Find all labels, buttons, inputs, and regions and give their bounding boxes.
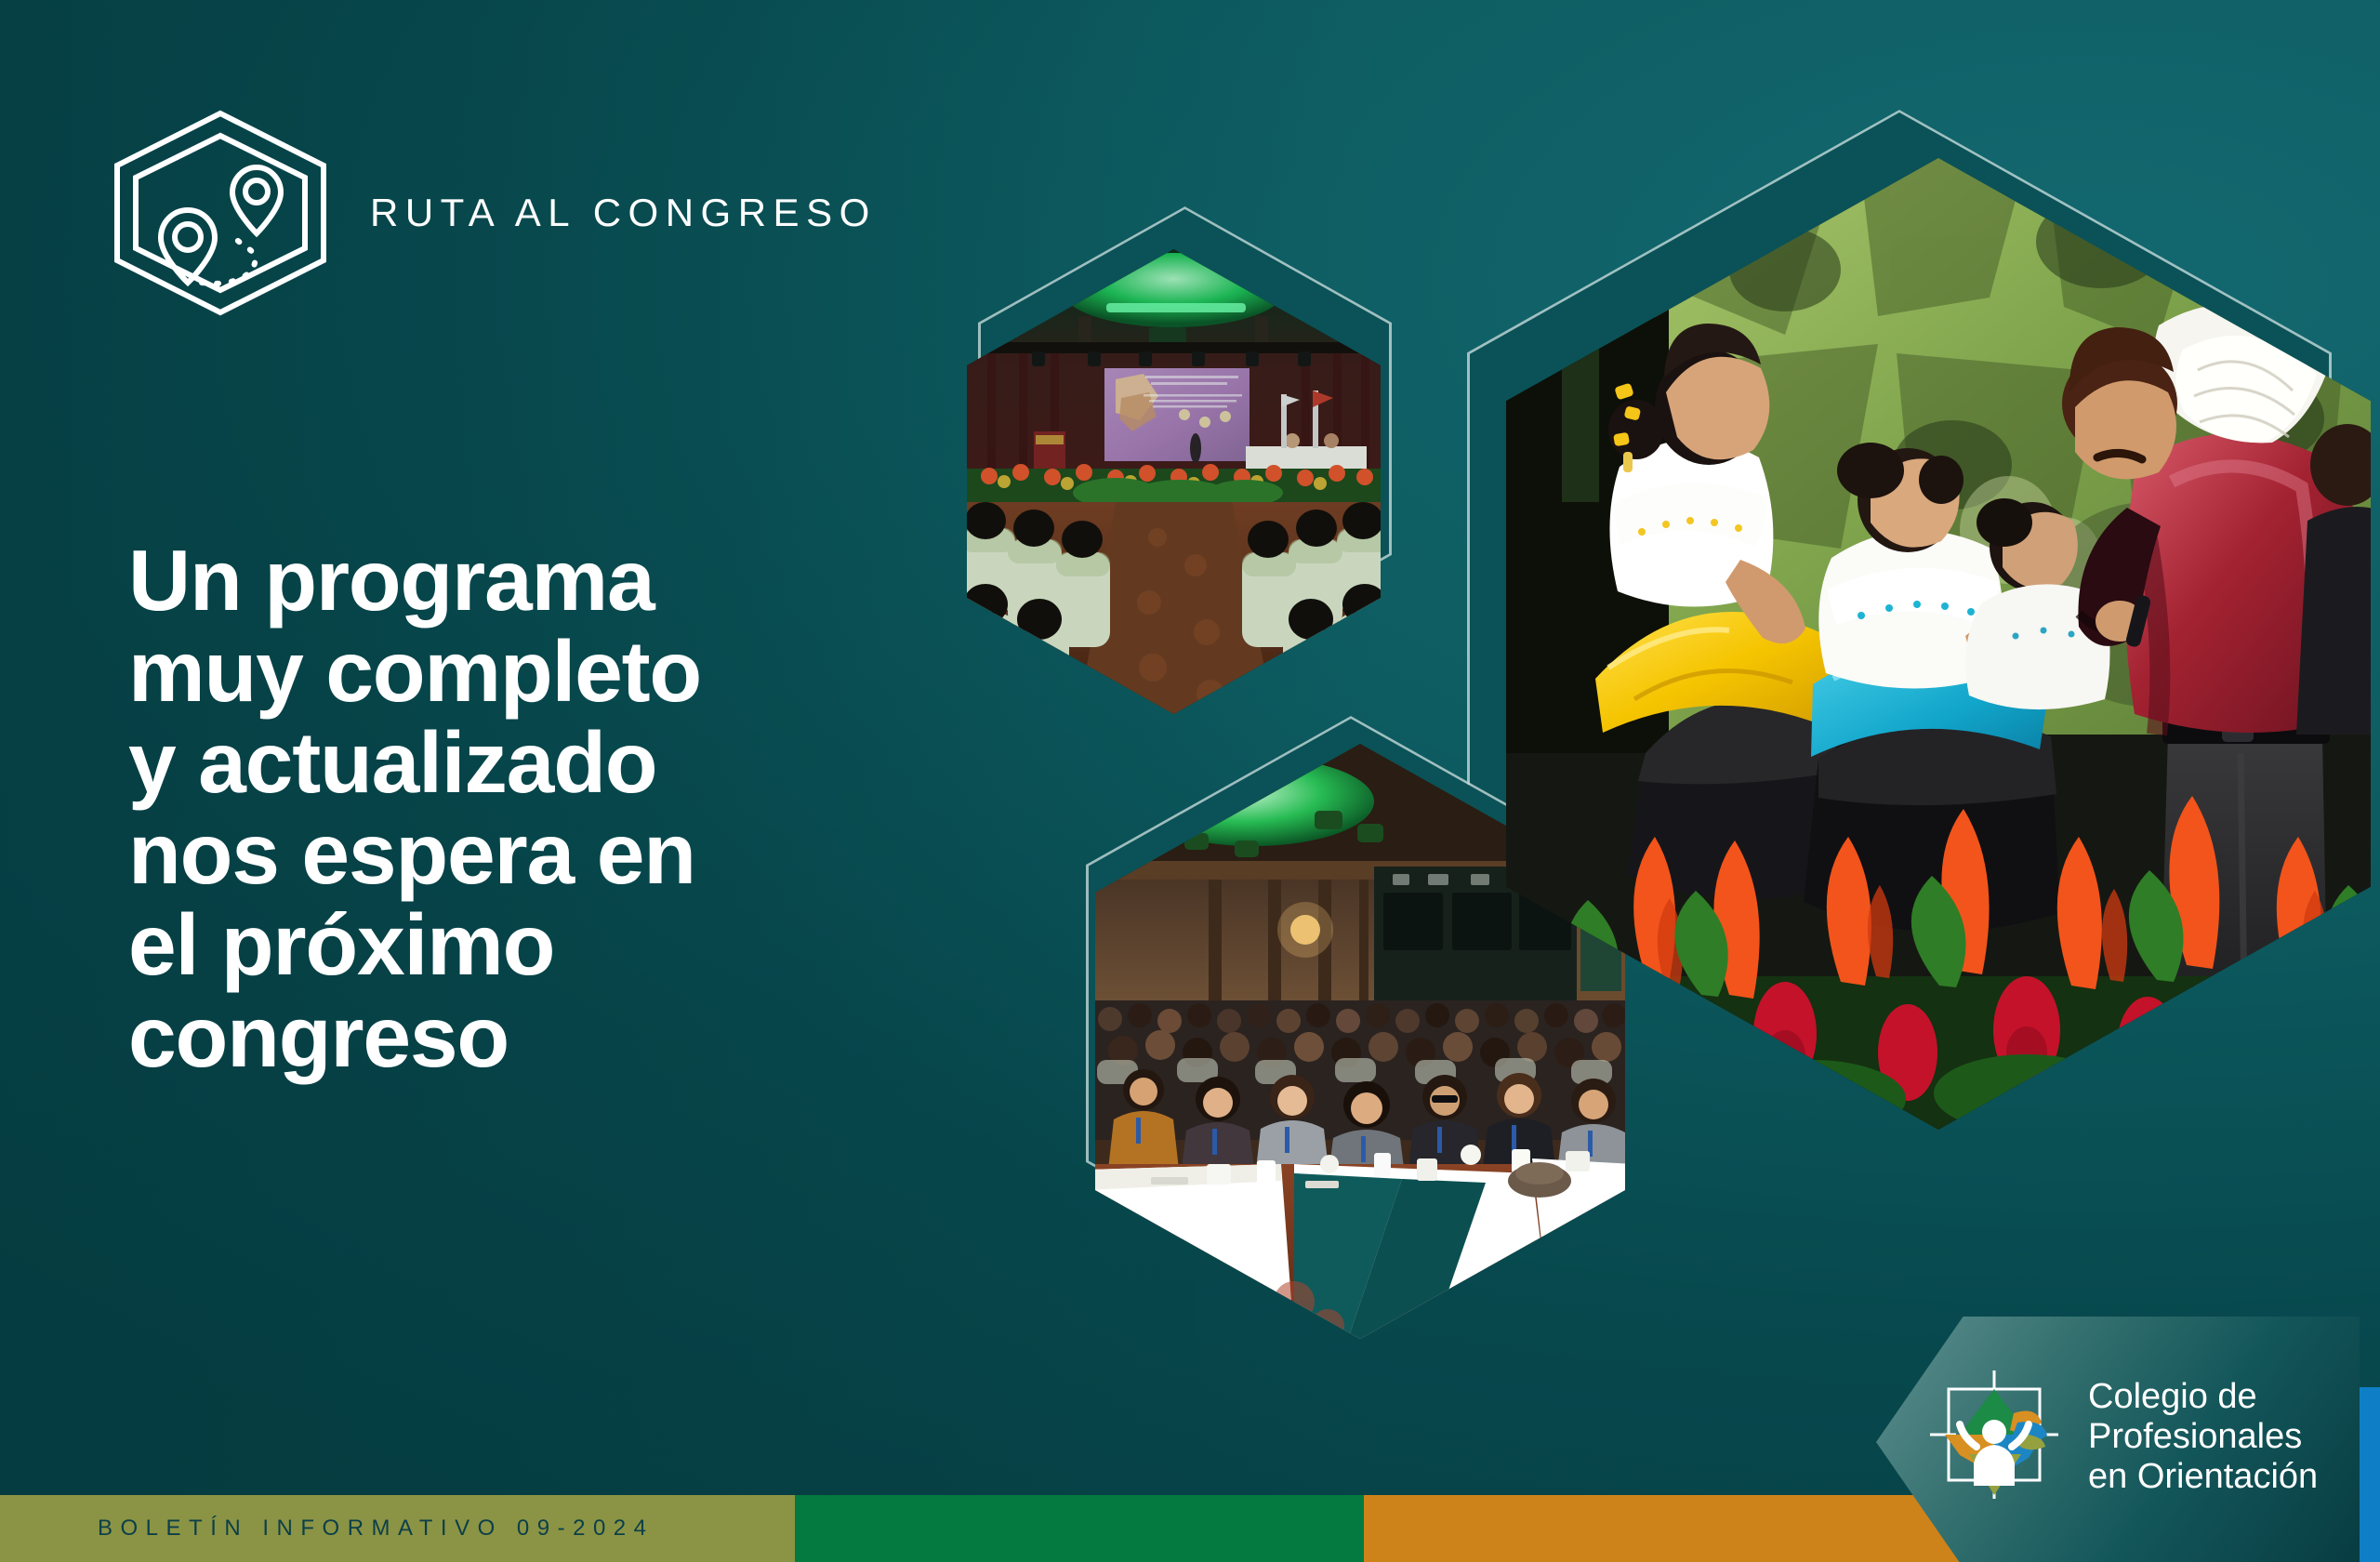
logo-line-1: Colegio de [2088, 1377, 2318, 1417]
headline-line: nos espera en [128, 808, 835, 899]
headline-line: muy completo [128, 626, 835, 717]
brand-title: RUTA AL CONGRESO [370, 191, 877, 235]
colegio-logo-text: Colegio de Profesionales en Orientación [2088, 1377, 2318, 1498]
colegio-diamond-person-icon [1924, 1365, 2064, 1509]
headline-line: el próximo [128, 899, 835, 990]
headline-line: y actualizado [128, 717, 835, 808]
route-hexagon-icon [110, 110, 331, 316]
headline-line: congreso [128, 991, 835, 1082]
segment-green [795, 1495, 1364, 1562]
hex-photo-plenary-hall [967, 249, 1381, 714]
logo-line-3: en Orientación [2088, 1457, 2318, 1497]
page-title: Un programa muy completo y actualizado n… [128, 535, 835, 1082]
colegio-logo: Colegio de Profesionales en Orientación [1876, 1317, 2360, 1562]
newsletter-slide: RUTA AL CONGRESO Un programa muy complet… [0, 0, 2380, 1562]
bulletin-label: BOLETÍN INFORMATIVO 09-2024 [98, 1495, 654, 1562]
hex-photo-folk-dancers [1506, 158, 2371, 1130]
headline-line: Un programa [128, 535, 835, 626]
brand-header: RUTA AL CONGRESO [110, 110, 877, 316]
logo-line-2: Profesionales [2088, 1417, 2318, 1457]
